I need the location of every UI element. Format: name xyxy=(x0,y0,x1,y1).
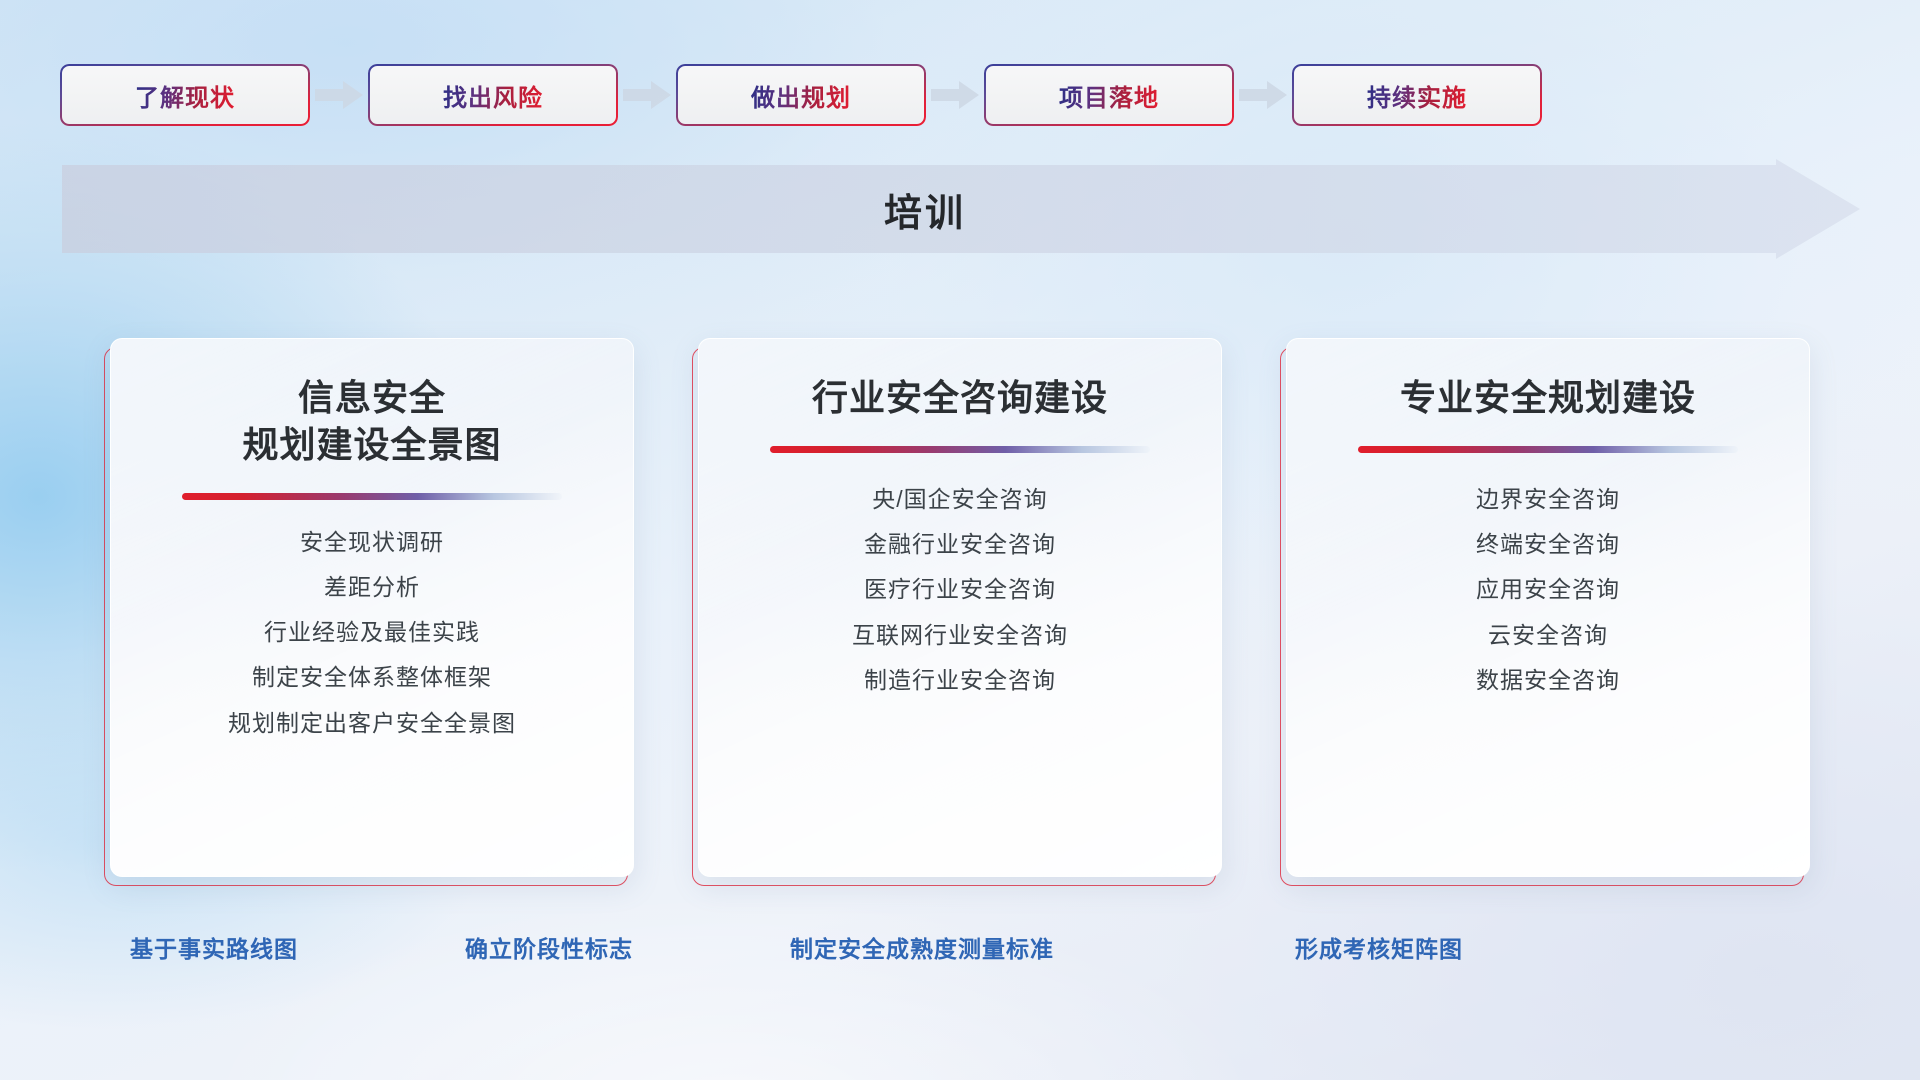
gradient-rule-icon xyxy=(182,493,562,500)
training-band-label: 培训 xyxy=(62,159,1788,259)
footer-caption: 形成考核矩阵图 xyxy=(1295,930,1463,964)
list-item: 边界安全咨询 xyxy=(1476,487,1620,512)
card-professional-security-planning[interactable]: 专业安全规划建设 边界安全咨询 终端安全咨询 应用安全咨询 云安全咨询 数据安全… xyxy=(1286,338,1810,877)
flow-step-5[interactable]: 持续实施 xyxy=(1292,64,1542,126)
list-item: 医疗行业安全咨询 xyxy=(864,577,1056,602)
right-arrow-icon xyxy=(1237,78,1289,112)
footer-caption: 基于事实路线图 xyxy=(130,930,298,964)
list-item: 行业经验及最佳实践 xyxy=(264,620,480,645)
right-arrow-icon xyxy=(313,78,365,112)
card-wrapper: 专业安全规划建设 边界安全咨询 终端安全咨询 应用安全咨询 云安全咨询 数据安全… xyxy=(1286,338,1810,878)
list-item: 制造行业安全咨询 xyxy=(864,668,1056,693)
process-flow: 了解现状 找出风险 做出规划 项目落地 xyxy=(60,63,1860,127)
flow-step-label: 持续实施 xyxy=(1367,78,1467,113)
card-item-list: 边界安全咨询 终端安全咨询 应用安全咨询 云安全咨询 数据安全咨询 xyxy=(1476,487,1620,693)
card-information-security-blueprint[interactable]: 信息安全 规划建设全景图 安全现状调研 差距分析 行业经验及最佳实践 制定安全体… xyxy=(110,338,634,877)
list-item: 差距分析 xyxy=(324,575,420,600)
footer-caption-row: 基于事实路线图 确立阶段性标志 制定安全成熟度测量标准 形成考核矩阵图 xyxy=(0,930,1920,974)
right-arrow-icon xyxy=(621,78,673,112)
card-item-list: 央/国企安全咨询 金融行业安全咨询 医疗行业安全咨询 互联网行业安全咨询 制造行… xyxy=(852,487,1068,693)
flow-step-1[interactable]: 了解现状 xyxy=(60,64,310,126)
flow-step-3[interactable]: 做出规划 xyxy=(676,64,926,126)
gradient-rule-icon xyxy=(1358,446,1738,453)
list-item: 金融行业安全咨询 xyxy=(864,532,1056,557)
footer-caption: 制定安全成熟度测量标准 xyxy=(790,930,1054,964)
card-title: 行业安全咨询建设 xyxy=(812,375,1108,422)
list-item: 终端安全咨询 xyxy=(1476,532,1620,557)
footer-caption: 确立阶段性标志 xyxy=(465,930,633,964)
flow-step-2[interactable]: 找出风险 xyxy=(368,64,618,126)
list-item: 规划制定出客户安全全景图 xyxy=(228,711,516,736)
list-item: 安全现状调研 xyxy=(300,530,444,555)
flow-step-label: 做出规划 xyxy=(751,78,851,113)
list-item: 应用安全咨询 xyxy=(1476,577,1620,602)
right-arrow-icon xyxy=(929,78,981,112)
card-row: 信息安全 规划建设全景图 安全现状调研 差距分析 行业经验及最佳实践 制定安全体… xyxy=(110,338,1810,878)
card-title: 信息安全 规划建设全景图 xyxy=(242,375,501,469)
list-item: 央/国企安全咨询 xyxy=(872,487,1047,512)
card-item-list: 安全现状调研 差距分析 行业经验及最佳实践 制定安全体系整体框架 规划制定出客户… xyxy=(228,530,516,736)
card-wrapper: 行业安全咨询建设 央/国企安全咨询 金融行业安全咨询 医疗行业安全咨询 互联网行… xyxy=(698,338,1222,878)
slide-canvas: 了解现状 找出风险 做出规划 项目落地 xyxy=(0,0,1920,1080)
flow-step-label: 找出风险 xyxy=(443,78,543,113)
flow-step-4[interactable]: 项目落地 xyxy=(984,64,1234,126)
training-band: 培训 xyxy=(62,159,1860,259)
flow-step-label: 项目落地 xyxy=(1059,78,1159,113)
list-item: 互联网行业安全咨询 xyxy=(852,623,1068,648)
flow-step-label: 了解现状 xyxy=(135,78,235,113)
list-item: 云安全咨询 xyxy=(1488,623,1608,648)
list-item: 数据安全咨询 xyxy=(1476,668,1620,693)
card-industry-security-consulting[interactable]: 行业安全咨询建设 央/国企安全咨询 金融行业安全咨询 医疗行业安全咨询 互联网行… xyxy=(698,338,1222,877)
card-title: 专业安全规划建设 xyxy=(1400,375,1696,422)
list-item: 制定安全体系整体框架 xyxy=(252,665,492,690)
card-wrapper: 信息安全 规划建设全景图 安全现状调研 差距分析 行业经验及最佳实践 制定安全体… xyxy=(110,338,634,878)
gradient-rule-icon xyxy=(770,446,1150,453)
